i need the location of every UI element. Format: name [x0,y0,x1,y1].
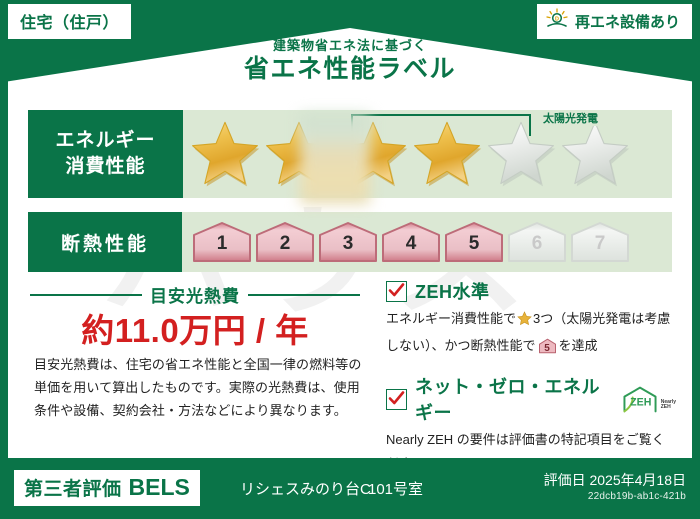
insulation-level-number: 7 [570,233,630,255]
star-filled-icon [189,119,261,189]
zeh-standard-checkbox[interactable] [386,281,407,302]
insulation-level-number: 6 [507,233,567,255]
energy-performance-label: エネルギー 消費性能 [28,110,183,198]
star-empty-icon [559,119,631,189]
zeh-logo: ZEH Nearly ZEH [621,386,676,413]
building-type-badge: 住宅（住戸） [8,4,131,39]
insulation-level-number: 1 [192,233,252,255]
heading-rule-left [30,294,142,296]
insulation-level-item: 5 [444,221,504,263]
insulation-level-group: 1234567 [186,221,630,263]
zeh-body-part3: を達成 [559,338,598,353]
zeh-standard-title: ZEH水準 [415,278,490,304]
check-icon [388,282,405,299]
zeh-body-part1: エネルギー消費性能で [386,311,516,326]
zeh-standard-heading: ZEH水準 [386,278,676,304]
net-zero-heading: ネット・ゼロ・エネルギー ZEH Nearly ZEH [386,373,676,425]
renewable-energy-label: 再エネ設備あり [575,11,680,32]
label-footer: 第三者評価 BELS リシェスみのり台C 101号室 評価日 2025年4月18… [0,462,700,519]
insulation-level-item: 3 [318,221,378,263]
utility-cost-value: 約11.0万円 / 年 [30,304,360,352]
heading-rule-right [248,294,360,296]
solar-bracket-label: 太陽光発電 [539,110,602,126]
property-name: リシェスみのり台C [240,478,371,499]
redacted-blur-patch [300,114,370,204]
evaluation-id: 22dcb19b-ab1c-421b [588,491,686,502]
insulation-level-number: 3 [318,233,378,255]
insulation-level-item: 2 [255,221,315,263]
zeh-standard-body: エネルギー消費性能で3つ（太陽光発電は考慮しない）、かつ断熱性能で5を達成 [386,307,676,358]
building-type-label: 住宅（住戸） [20,15,119,32]
mini-star-icon [517,310,532,334]
bels-jp-label: 第三者評価 [24,474,122,501]
insulation-label-text: 断熱性能 [61,229,149,256]
net-zero-body: Nearly ZEH の要件は評価書の特記項目をご覧ください。 [386,428,676,458]
label-title: 建築物省エネ法に基づく 省エネ性能ラベル [0,38,700,83]
property-room: 101号室 [368,478,423,499]
utility-cost-note: 目安光熱費は、住宅の省エネ性能と全国一律の燃料等の単価を用いて算出したものです。… [34,354,364,422]
insulation-level-item: 1 [192,221,252,263]
title-main: 省エネ性能ラベル [0,56,700,84]
renewable-energy-badge: D 再エネ設備あり [537,4,692,39]
evaluation-date: 評価日 2025年4月18日 [544,470,686,490]
bels-certification-badge: 第三者評価 BELS [14,470,200,506]
insulation-level-number: 5 [444,233,504,255]
insulation-performance-label: 断熱性能 [28,212,182,272]
sun-icon: D [545,8,569,35]
title-subtitle: 建築物省エネ法に基づく [0,38,700,54]
zeh-house-icon: ZEH [621,386,659,413]
insulation-performance-row: 断熱性能 1234567 [28,212,672,272]
energy-label-line1: エネルギー [55,128,155,154]
bels-energy-label: 住宅（住戸） D 再エネ設備あり 建築物省エネ法に基づく 省エネ性能ラベル ハ [0,0,700,519]
insulation-level-item: 7 [570,221,630,263]
solar-contribution-bracket: 太陽光発電 [351,114,531,136]
energy-rating-track: 太陽光発電 [183,110,672,198]
insulation-level-number: 2 [255,233,315,255]
svg-text:ZEH: ZEH [630,396,651,408]
certification-column: ZEH水準 エネルギー消費性能で3つ（太陽光発電は考慮しない）、かつ断熱性能で5… [386,278,676,458]
zeh-logo-sub-line2: ZEH [661,404,671,410]
insulation-rating-track: 1234567 [182,212,672,272]
energy-performance-row: エネルギー 消費性能 太陽光発電 [28,110,672,198]
zeh-logo-sub: Nearly ZEH [661,400,676,413]
energy-label-line2: 消費性能 [65,154,145,180]
net-zero-checkbox[interactable] [386,389,407,410]
net-zero-title: ネット・ゼロ・エネルギー [415,373,609,425]
bels-en-label: BELS [129,474,190,501]
svg-text:D: D [555,17,559,23]
insulation-level-item: 6 [507,221,567,263]
label-body-card: ハウス エネルギー 消費性能 太陽光発電 断熱性能 1234567 [8,96,692,458]
insulation-level-number: 4 [381,233,441,255]
insulation-level-item: 4 [381,221,441,263]
mini-house-icon: 5 [538,338,557,354]
mini-house-level: 5 [538,340,557,359]
check-icon [388,390,405,407]
